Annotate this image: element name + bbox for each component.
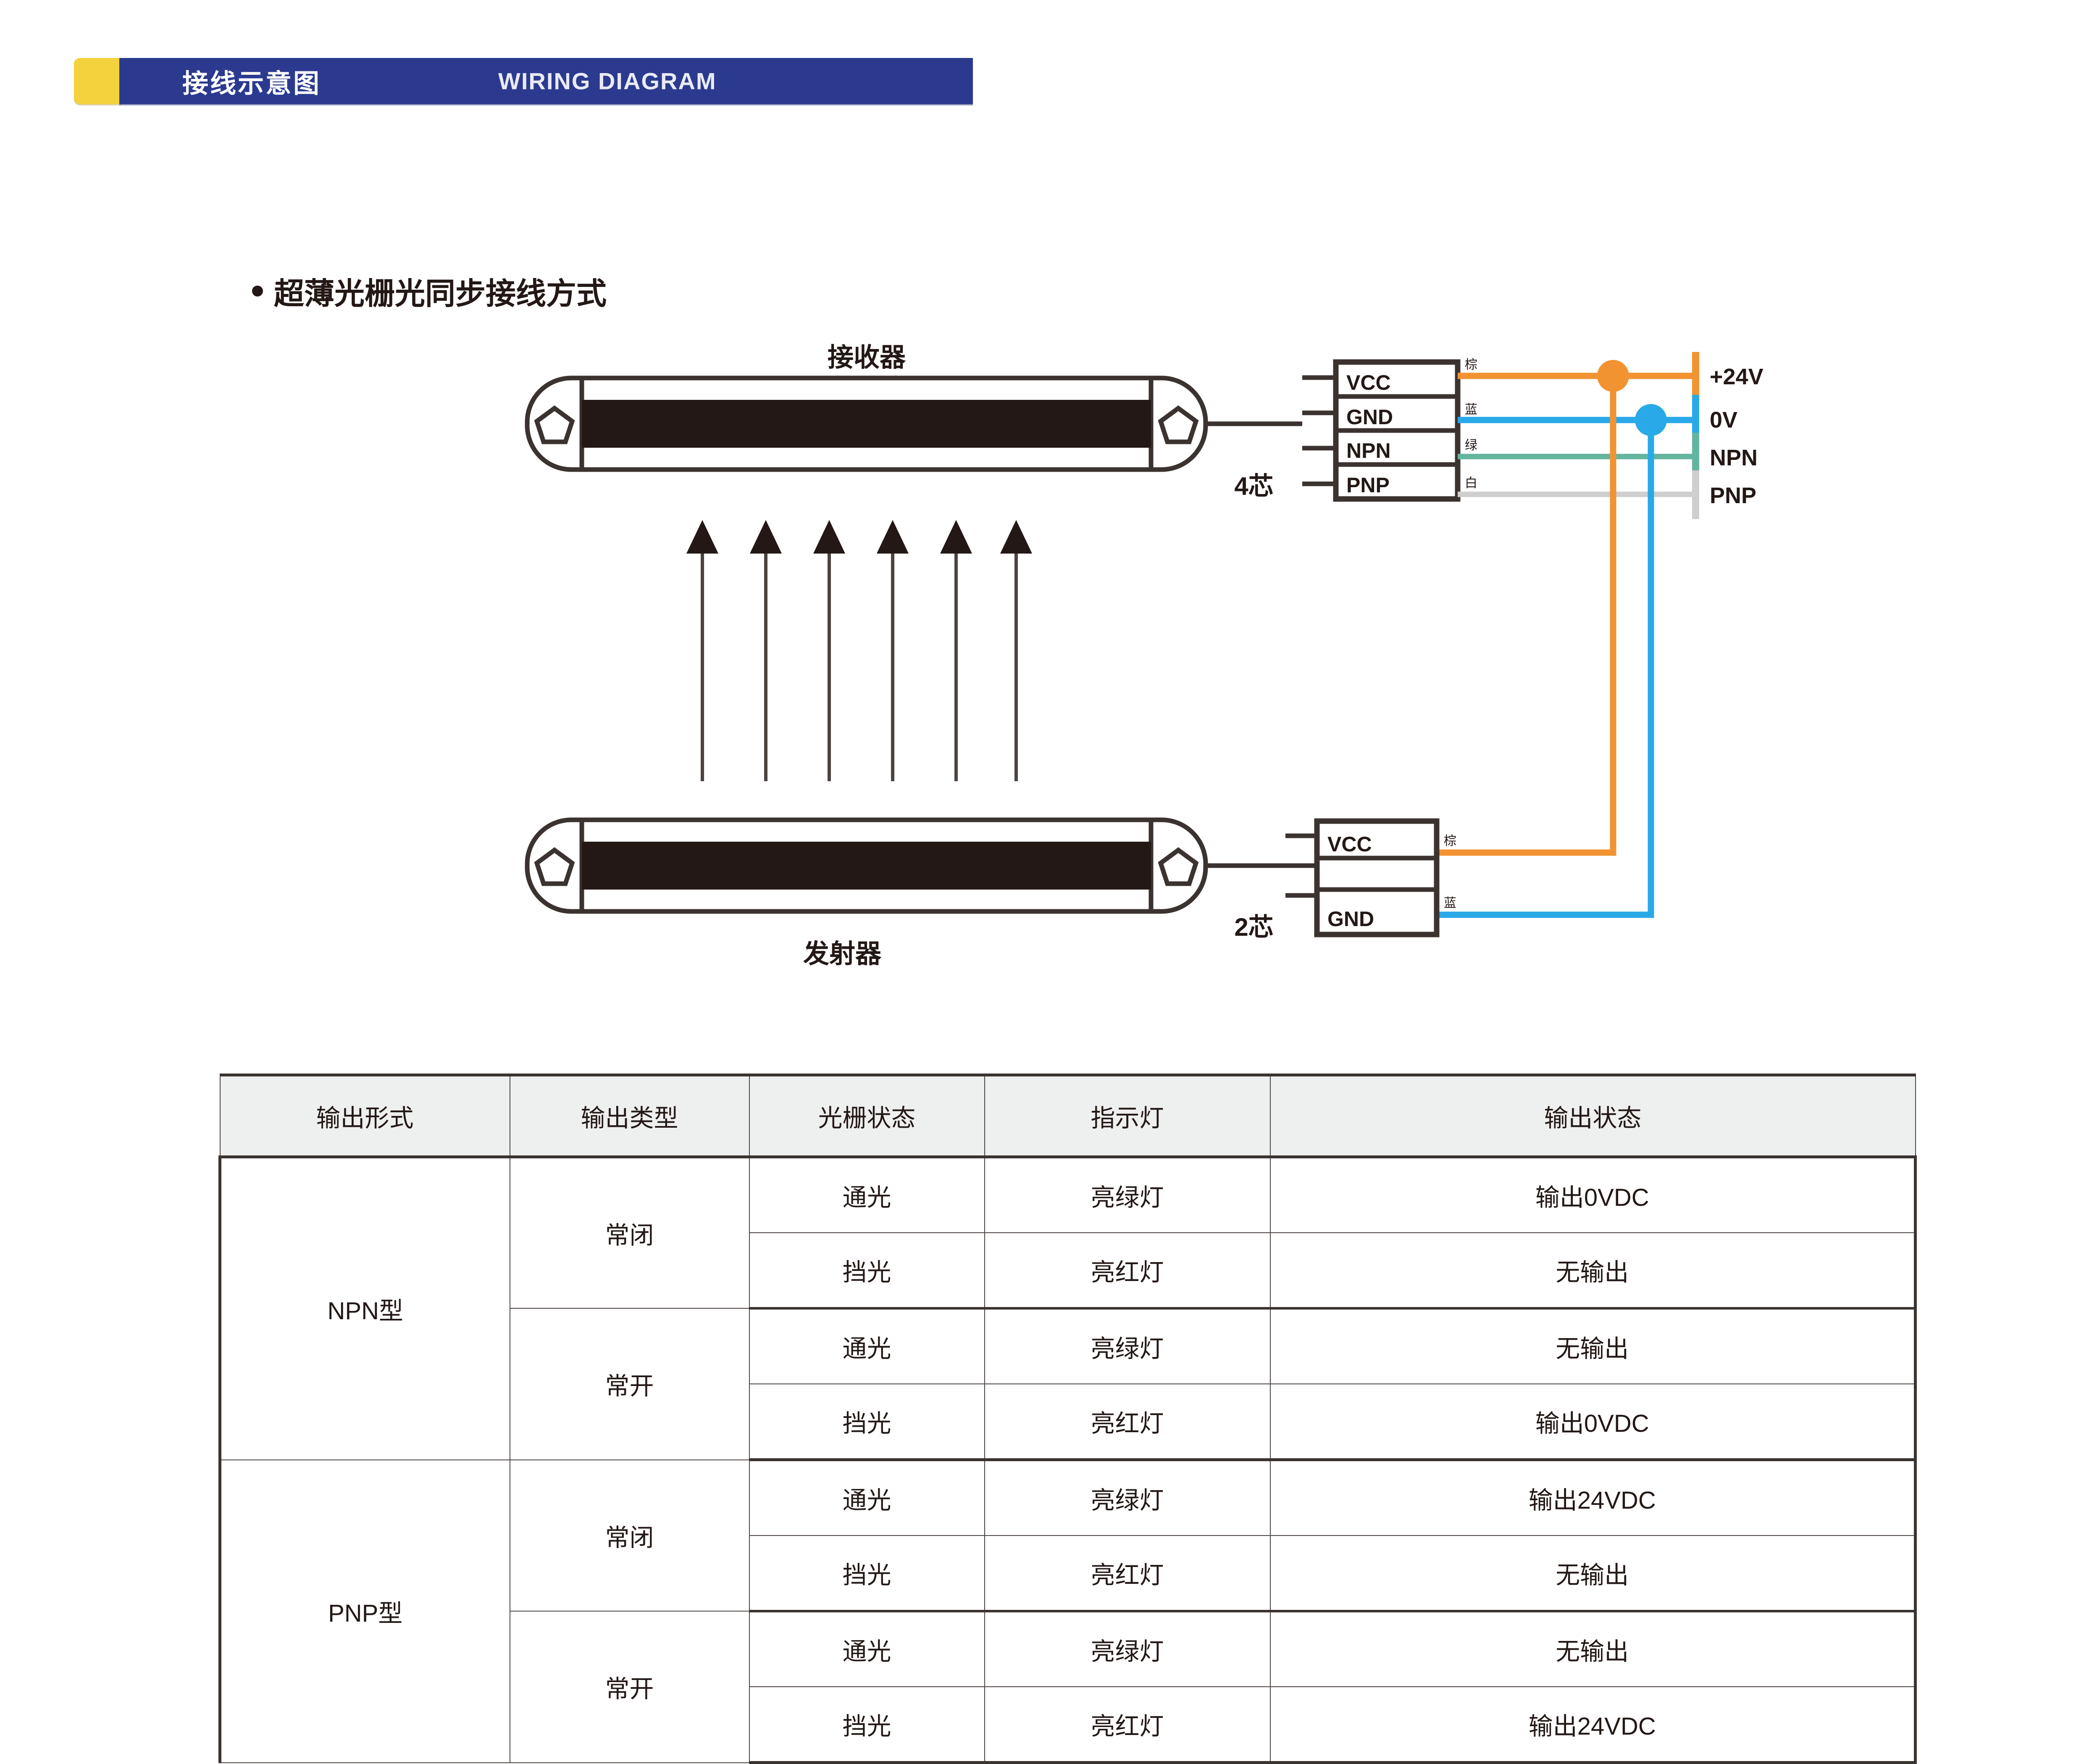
table-header-row: 输出形式 输出类型 光栅状态 指示灯 输出状态	[220, 1075, 1916, 1157]
header-title-cn: 接线示意图	[182, 62, 321, 100]
drop-brown	[1336, 376, 1613, 853]
rail-bar-24v	[1692, 352, 1699, 401]
receiver-terminal-gnd: GND	[1346, 405, 1393, 429]
cell-grating-state: 挡光	[749, 1233, 985, 1308]
wire-color-label-brown: 棕	[1465, 358, 1477, 372]
beam-arrows	[686, 520, 1032, 781]
beam-arrow	[750, 520, 782, 781]
receiver-cable-count-label: 4芯	[1234, 472, 1273, 500]
beam-arrow	[813, 520, 845, 781]
output-state-table: 输出形式 输出类型 光栅状态 指示灯 输出状态 NPN型 常闭 通光 亮绿灯 输…	[218, 1074, 1917, 1764]
cell-grating-state: 挡光	[749, 1687, 985, 1763]
table-row: NPN型 常闭 通光 亮绿灯 输出0VDC	[220, 1157, 1916, 1233]
wire-color-label-green: 绿	[1465, 438, 1477, 452]
receiver-cable-fanout	[1302, 378, 1336, 484]
cell-indicator: 亮红灯	[985, 1233, 1270, 1308]
beam-arrow	[940, 520, 972, 781]
bullet-dot-icon	[252, 286, 263, 297]
rail-label-0v: 0V	[1710, 407, 1737, 433]
cell-indicator: 亮红灯	[985, 1687, 1270, 1763]
cell-indicator: 亮绿灯	[985, 1611, 1270, 1687]
receiver-sensor	[527, 378, 1302, 470]
cell-grating-state: 通光	[749, 1460, 985, 1536]
table-header-output-form: 输出形式	[220, 1075, 510, 1157]
cell-indicator: 亮红灯	[985, 1536, 1270, 1611]
table-row: PNP型 常闭 通光 亮绿灯 输出24VDC	[220, 1460, 1916, 1536]
table-header-output-state: 输出状态	[1270, 1075, 1916, 1157]
cell-output-type: 常开	[510, 1308, 749, 1460]
cell-indicator: 亮绿灯	[985, 1460, 1270, 1536]
transmitter-cable-count-label: 2芯	[1234, 913, 1273, 941]
cell-output-type: 常开	[510, 1611, 749, 1763]
cell-grating-state: 挡光	[749, 1384, 985, 1460]
rail-bar-pnp	[1692, 470, 1699, 519]
table-header-output-type: 输出类型	[510, 1075, 749, 1157]
section-heading: 超薄光栅光同步接线方式	[252, 269, 607, 313]
cell-grating-state: 挡光	[749, 1536, 985, 1611]
cell-output-state: 无输出	[1270, 1611, 1916, 1687]
beam-arrow	[1000, 520, 1032, 781]
transmitter-cable-fanout	[1285, 836, 1317, 895]
rail-label-pnp: PNP	[1710, 483, 1756, 508]
wire-color-label-white: 白	[1465, 476, 1477, 490]
tx-wire-color-label-brown: 棕	[1444, 834, 1456, 848]
junction-dot-0v	[1635, 404, 1667, 436]
table-header-indicator: 指示灯	[985, 1075, 1270, 1157]
receiver-terminal-block: VCC GND NPN PNP	[1336, 362, 1458, 499]
rail-label-npn: NPN	[1710, 445, 1758, 470]
cell-indicator: 亮绿灯	[985, 1157, 1270, 1233]
cell-output-form: PNP型	[220, 1460, 510, 1763]
transmitter-terminal-block: VCC GND	[1317, 821, 1437, 934]
cell-output-state: 无输出	[1270, 1536, 1916, 1611]
cell-indicator: 亮红灯	[985, 1384, 1270, 1460]
transmitter-terminal-gnd: GND	[1327, 907, 1374, 931]
junction-dot-24v	[1597, 360, 1629, 392]
cell-grating-state: 通光	[749, 1308, 985, 1384]
power-rail-terminals: +24V 0V NPN PNP	[1692, 352, 1763, 519]
cell-output-state: 输出0VDC	[1270, 1384, 1916, 1460]
receiver-wires: 棕 蓝 绿 白	[1458, 358, 1695, 494]
transmitter-sensor	[527, 820, 1285, 911]
wire-color-label-blue: 蓝	[1465, 403, 1477, 417]
beam-arrow	[686, 520, 718, 781]
table-header-grating-state: 光栅状态	[749, 1075, 985, 1157]
cell-output-state: 无输出	[1270, 1233, 1916, 1308]
receiver-terminal-vcc: VCC	[1346, 371, 1391, 394]
cell-output-state: 输出0VDC	[1270, 1157, 1916, 1233]
cell-output-state: 无输出	[1270, 1308, 1916, 1384]
receiver-label: 接收器	[828, 343, 906, 372]
shared-power-drops	[1336, 376, 1651, 915]
page-header-banner: 接线示意图 WIRING DIAGRAM	[74, 58, 973, 104]
rail-label-24v: +24V	[1710, 364, 1763, 389]
cell-grating-state: 通光	[749, 1157, 985, 1233]
cell-output-state: 输出24VDC	[1270, 1460, 1916, 1536]
transmitter-label: 发射器	[803, 940, 882, 969]
tx-wire-color-label-blue: 蓝	[1444, 896, 1456, 910]
rail-bar-npn	[1692, 433, 1699, 481]
cell-grating-state: 通光	[749, 1611, 985, 1687]
rail-bar-0v	[1692, 395, 1699, 444]
cell-indicator: 亮绿灯	[985, 1308, 1270, 1384]
cell-output-state: 输出24VDC	[1270, 1687, 1916, 1763]
header-title-en: WIRING DIAGRAM	[498, 68, 717, 95]
receiver-terminal-npn: NPN	[1346, 439, 1391, 462]
transmitter-terminal-vcc: VCC	[1327, 832, 1372, 856]
beam-arrow	[877, 520, 909, 781]
cell-output-form: NPN型	[220, 1157, 510, 1460]
header-accent-block	[74, 58, 121, 104]
cell-output-type: 常闭	[510, 1460, 749, 1612]
drop-blue	[1336, 420, 1651, 915]
section-heading-label: 超薄光栅光同步接线方式	[274, 269, 607, 313]
receiver-terminal-pnp: PNP	[1346, 473, 1390, 497]
cell-output-type: 常闭	[510, 1157, 749, 1309]
